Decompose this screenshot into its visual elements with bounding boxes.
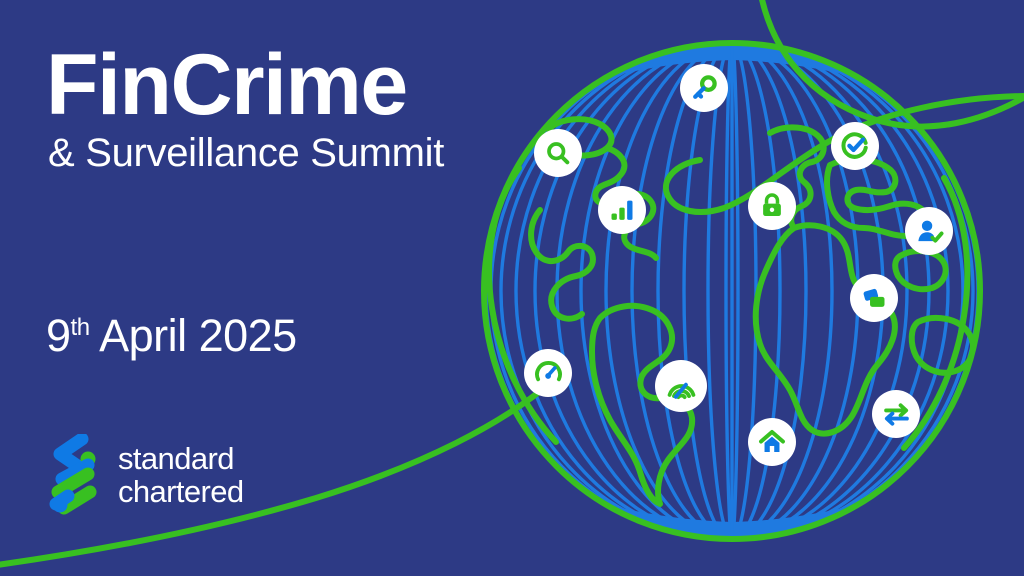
transfer-icon-badge [872, 390, 920, 438]
gauge-icon [534, 359, 563, 388]
home-icon-badge [748, 418, 796, 466]
cards-icon-badge [850, 274, 898, 322]
event-date: 9th April 2025 [46, 310, 297, 362]
user-verified-icon [915, 217, 944, 246]
search-icon [544, 139, 572, 167]
standard-chartered-mark-icon [46, 434, 102, 516]
logo-wordmark-line2: chartered [118, 476, 244, 507]
lock-icon [758, 192, 786, 220]
transfer-icon [882, 400, 911, 429]
check-circle-icon [840, 131, 870, 161]
lock-icon-badge [748, 182, 796, 230]
page-subtitle: & Surveillance Summit [48, 131, 516, 175]
home-icon [758, 428, 786, 456]
poster-canvas: FinCrime & Surveillance Summit 9th April… [0, 0, 1024, 576]
bar-chart-icon-badge [598, 186, 646, 234]
event-date-rest: April 2025 [90, 310, 297, 361]
event-date-day: 9 [46, 310, 71, 361]
search-icon-badge [534, 129, 582, 177]
fingerprint-icon [666, 371, 697, 402]
cards-icon [860, 284, 888, 312]
bar-chart-icon [608, 196, 636, 224]
standard-chartered-logo: standard chartered [46, 434, 244, 516]
gauge-icon-badge [524, 349, 572, 397]
page-title: FinCrime [46, 44, 516, 127]
key-icon-badge [680, 64, 728, 112]
event-heading-block: FinCrime & Surveillance Summit [46, 44, 516, 175]
logo-wordmark-line1: standard [118, 443, 244, 474]
key-icon [689, 73, 719, 103]
user-verified-icon-badge [905, 207, 953, 255]
fingerprint-icon-badge [655, 360, 707, 412]
event-date-ordinal: th [71, 314, 90, 341]
check-circle-icon-badge [831, 122, 879, 170]
